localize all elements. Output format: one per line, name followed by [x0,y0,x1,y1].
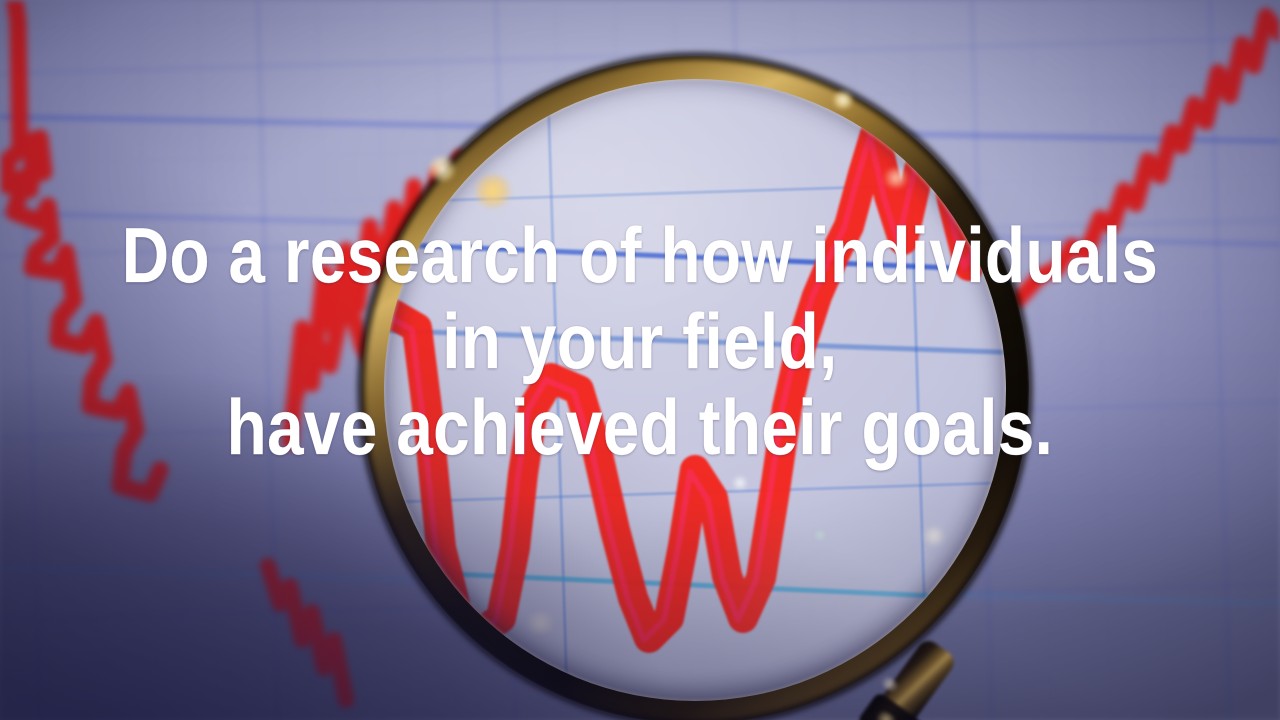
video-frame: Do a research of how individuals in your… [0,0,1280,720]
caption-line-2: in your field, [102,298,1177,384]
quote-caption: Do a research of how individuals in your… [102,212,1177,470]
caption-line-1: Do a research of how individuals [102,212,1177,298]
caption-line-3: have achieved their goals. [102,384,1177,470]
